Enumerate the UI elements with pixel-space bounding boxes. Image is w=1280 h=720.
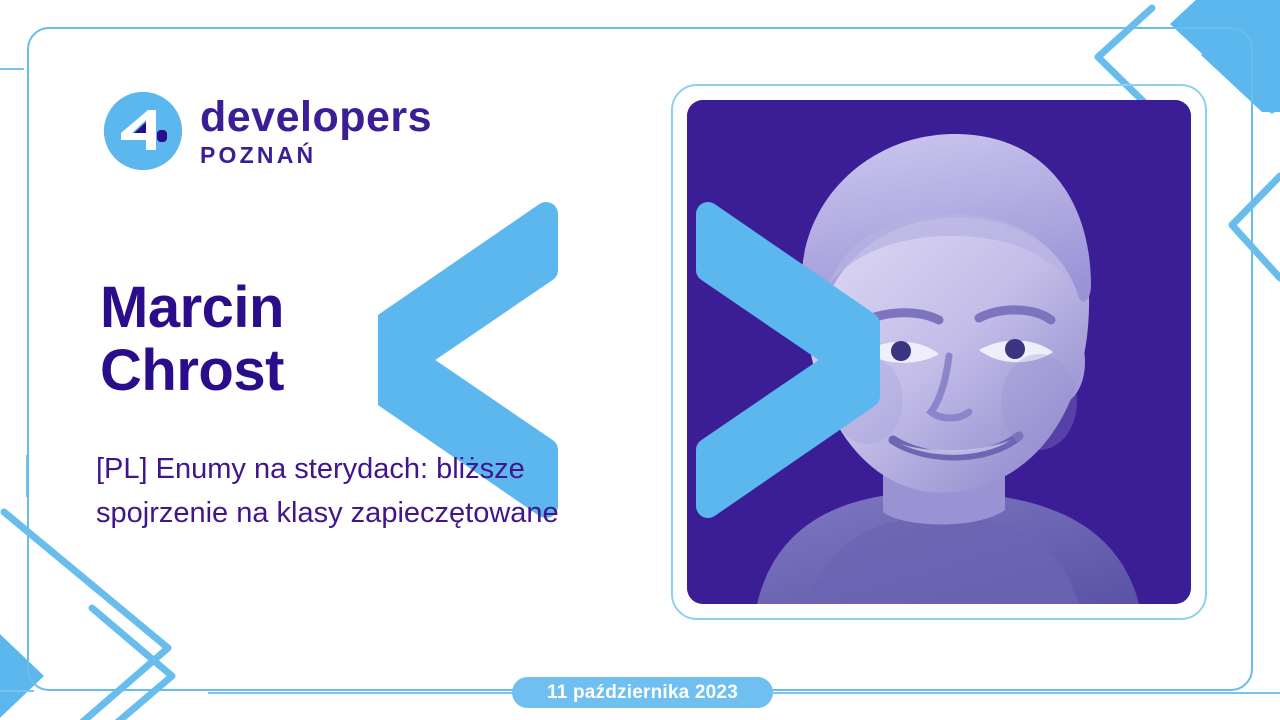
4developers-logo-mark — [104, 92, 182, 170]
brand-logo-text: developers POZNAŃ — [200, 96, 432, 167]
chevron-right-icon — [694, 200, 884, 520]
event-date-badge: 11 października 2023 — [512, 677, 773, 708]
speaker-slide: developers POZNAŃ Marcin Chrost — [0, 0, 1280, 720]
talk-title: [PL] Enumy na sterydach: bliższe spojrze… — [96, 447, 566, 535]
brand-subtitle: POZNAŃ — [200, 144, 432, 167]
date-line-right — [766, 692, 1280, 694]
date-strip: 11 października 2023 — [0, 677, 1280, 709]
brand-title: developers — [200, 96, 432, 139]
brand-logo: developers POZNAŃ — [104, 92, 432, 170]
date-line-left — [208, 692, 520, 694]
